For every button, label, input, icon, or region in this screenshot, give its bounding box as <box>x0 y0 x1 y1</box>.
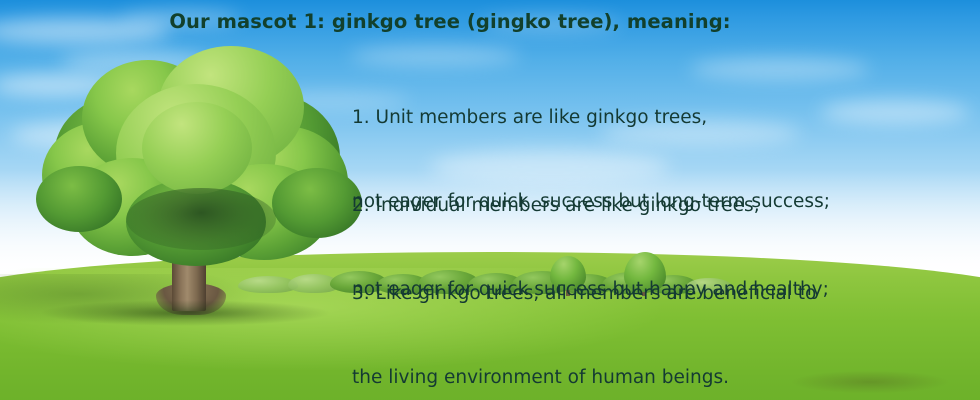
tree-canopy-lobe <box>142 102 252 194</box>
mascot-banner: Our mascot 1: ginkgo tree (gingko tree),… <box>0 0 980 400</box>
meaning-item-1-line-1: 1. Unit members are like ginkgo trees, <box>352 104 952 132</box>
page-title: Our mascot 1: ginkgo tree (gingko tree),… <box>0 10 900 33</box>
tree-canopy-lobe <box>36 166 122 232</box>
meaning-item-3-line-2: the living environment of human beings. <box>352 364 952 392</box>
meaning-item-3: 3. Like ginkgo trees, all members are be… <box>352 224 952 400</box>
meaning-item-2-line-1: 2. Individual members are like ginkgo tr… <box>352 192 952 220</box>
tree-ground-shadow <box>40 300 330 326</box>
ginkgo-tree <box>30 38 360 318</box>
tree-inner-branches <box>126 188 276 250</box>
meaning-item-3-line-1: 3. Like ginkgo trees, all members are be… <box>352 280 952 308</box>
tree-canopy-lobe <box>272 168 362 238</box>
